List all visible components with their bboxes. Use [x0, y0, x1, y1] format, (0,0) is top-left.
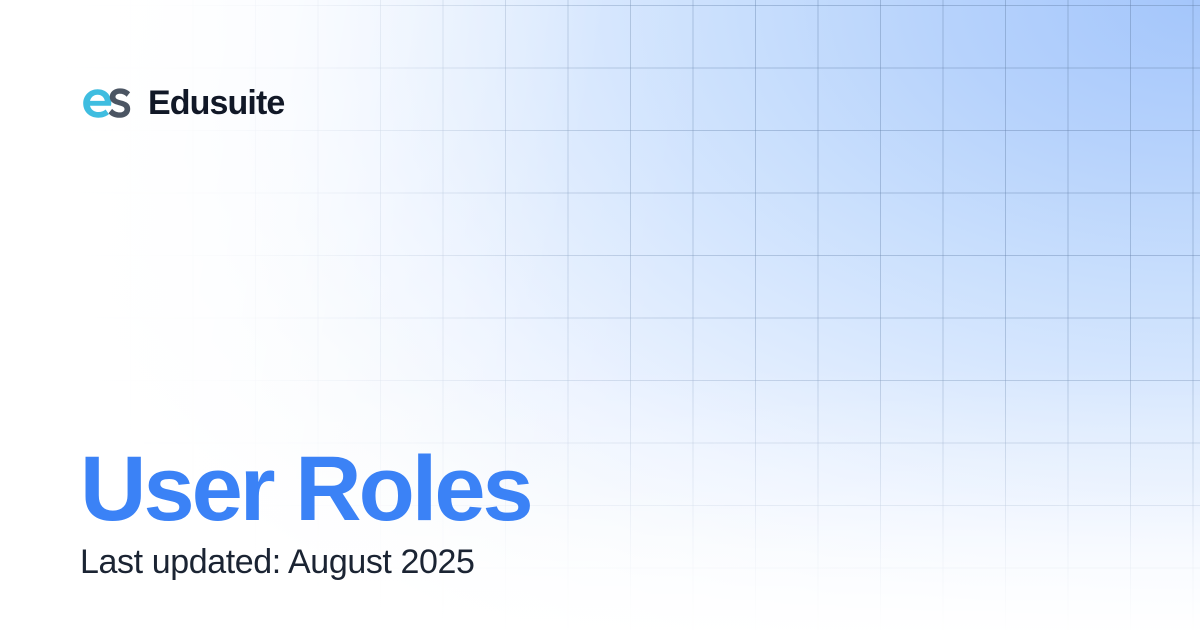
edusuite-es-monogram-icon	[80, 82, 134, 124]
brand-lockup: Edusuite	[80, 82, 284, 124]
page-title: User Roles	[80, 443, 531, 535]
og-banner-card: Edusuite User Roles Last updated: August…	[0, 0, 1200, 630]
banner-content: Edusuite User Roles Last updated: August…	[0, 0, 1200, 630]
last-updated-text: Last updated: August 2025	[80, 542, 475, 583]
brand-name: Edusuite	[148, 86, 284, 120]
